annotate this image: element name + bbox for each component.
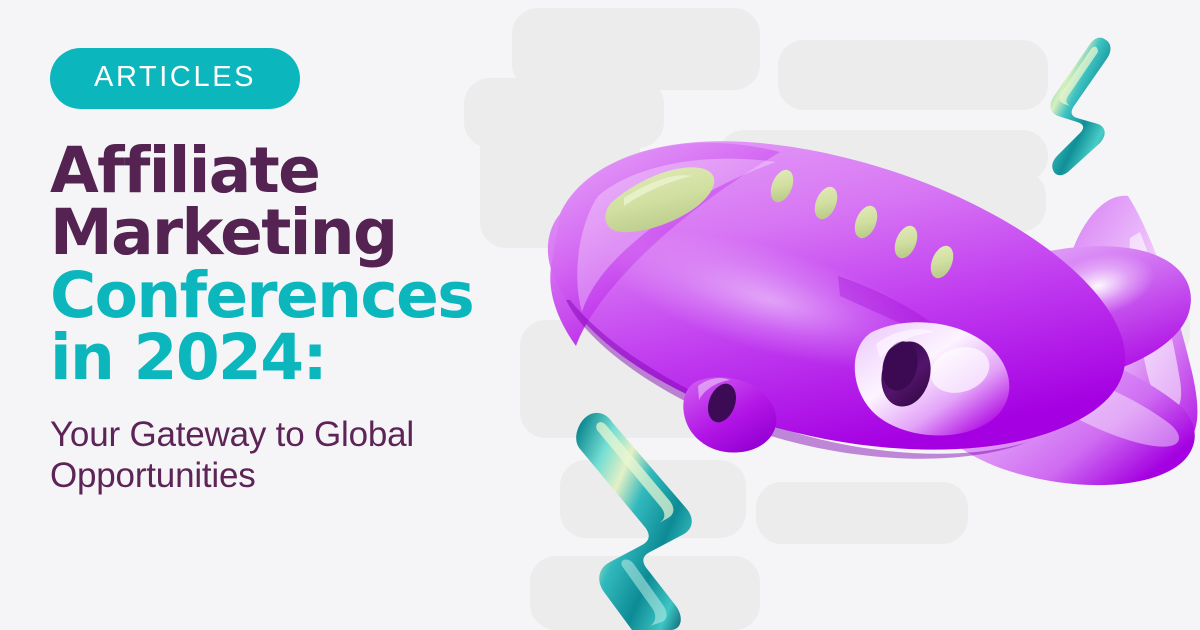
headline-line-4: in 2024: xyxy=(50,327,520,389)
hero-banner: ARTICLES Affiliate Marketing Conferences… xyxy=(0,0,1200,630)
bg-rect xyxy=(520,320,720,438)
text-column: ARTICLES Affiliate Marketing Conferences… xyxy=(50,48,520,497)
category-badge[interactable]: ARTICLES xyxy=(50,48,300,109)
bg-rect xyxy=(560,460,746,538)
bg-rect xyxy=(980,300,1190,360)
bg-rect xyxy=(756,482,968,544)
subtitle-line-1: Your Gateway to Global xyxy=(50,415,414,454)
headline-line-1: Affiliate xyxy=(50,140,520,202)
page-subtitle: Your Gateway to Global Opportunities xyxy=(50,415,520,496)
headline-line-3: Conferences xyxy=(50,265,520,327)
subtitle-line-2: Opportunities xyxy=(50,456,256,495)
headline-line-2: Marketing xyxy=(50,202,520,264)
bg-rect xyxy=(530,556,760,630)
bg-rect xyxy=(784,170,1046,232)
bg-rect xyxy=(778,40,1048,110)
page-title: Affiliate Marketing Conferences in 2024: xyxy=(50,140,520,389)
bg-rect xyxy=(752,330,964,416)
